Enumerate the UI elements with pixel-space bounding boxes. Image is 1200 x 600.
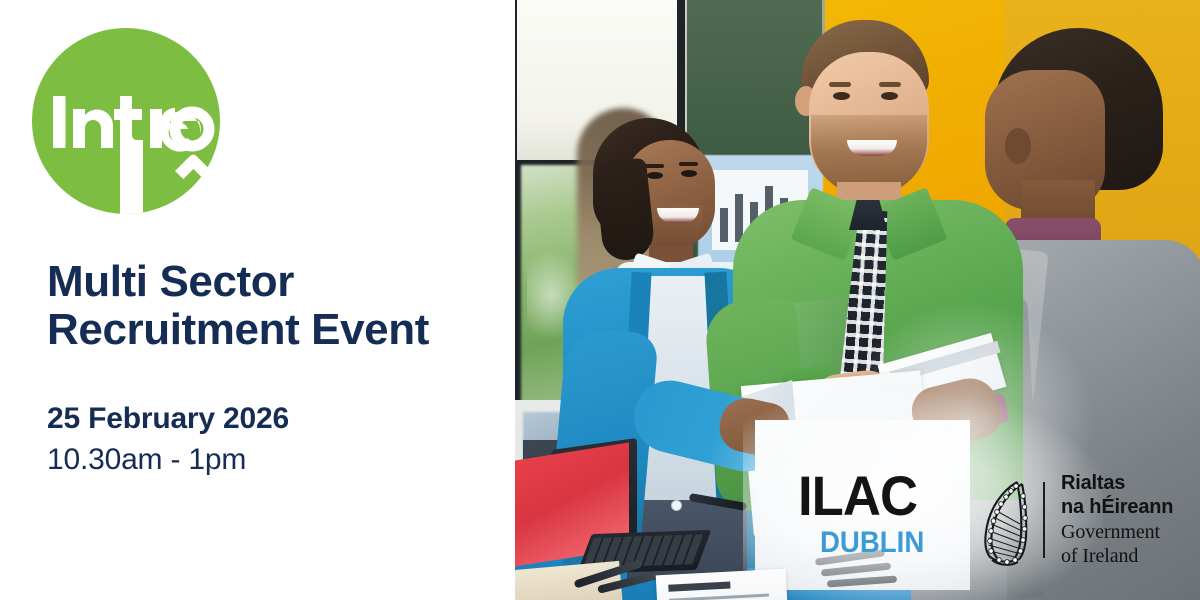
government-of-ireland-logo: Rialtas na hÉireann Government of Irelan… — [973, 468, 1191, 572]
man-center-brow-left — [829, 82, 851, 87]
woman-button-bottom — [671, 500, 682, 511]
ilac-wordmark: ILAC — [798, 468, 939, 524]
event-poster: ILAC DUBLIN — [0, 0, 1200, 600]
event-title-line1: Multi Sector — [47, 258, 497, 306]
ilac-dublin-logo: ILAC DUBLIN — [798, 468, 948, 573]
event-time: 10.30am - 1pm — [47, 443, 246, 477]
gov-line-government: Government — [1061, 520, 1173, 544]
intreo-wordmark-icon — [32, 28, 220, 214]
harp-icon — [973, 474, 1031, 566]
gov-line-rialtas: Rialtas — [1061, 472, 1173, 496]
man-right-ear — [1005, 128, 1031, 164]
man-center-brow-right — [879, 82, 901, 87]
man-center-eye-left — [833, 92, 850, 100]
event-title-line2: Recruitment Event — [47, 306, 497, 354]
man-center-eye-right — [881, 92, 898, 100]
logo-divider — [1043, 482, 1045, 558]
gov-line-na-heireann: na hÉireann — [1061, 496, 1173, 520]
woman-brow-left — [645, 164, 664, 168]
government-logo-text: Rialtas na hÉireann Government of Irelan… — [1061, 472, 1173, 567]
intreo-logo — [32, 28, 220, 214]
ilac-sub-wordmark: DUBLIN — [820, 528, 938, 558]
woman-brow-right — [679, 162, 698, 166]
woman-eye-right — [681, 170, 697, 177]
event-date: 25 February 2026 — [47, 402, 289, 436]
woman-eye-left — [647, 172, 663, 179]
event-title: Multi Sector Recruitment Event — [47, 258, 497, 355]
info-panel: Multi Sector Recruitment Event 25 Februa… — [0, 0, 515, 600]
gov-line-of-ireland: of Ireland — [1061, 544, 1173, 568]
event-photo: ILAC DUBLIN — [515, 0, 1200, 600]
